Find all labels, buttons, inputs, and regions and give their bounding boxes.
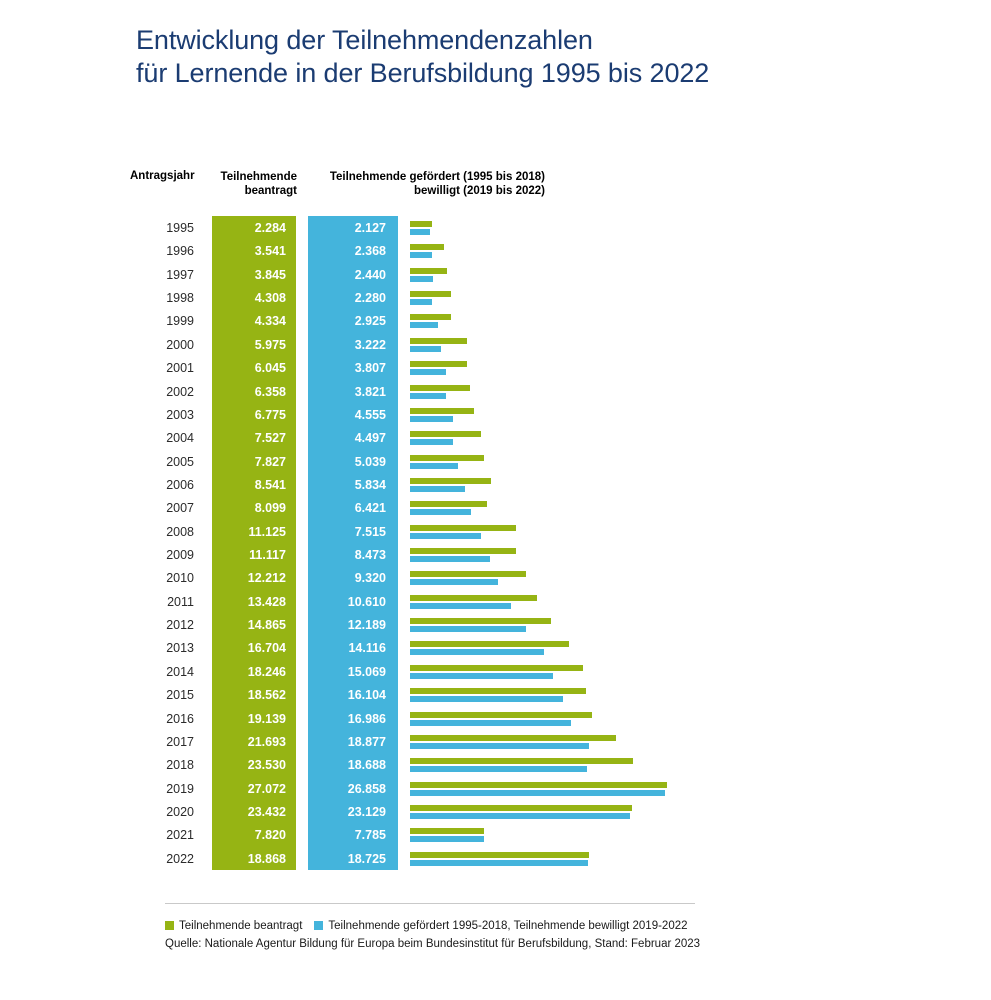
row-funded-value: 2.440	[308, 268, 386, 282]
row-applied-value: 18.562	[212, 688, 286, 702]
legend-item-funded: Teilnehmende gefördert 1995-2018, Teilne…	[314, 920, 687, 932]
bar-funded	[410, 486, 465, 492]
row-year-label: 2019	[130, 782, 194, 796]
bar-funded	[410, 860, 588, 866]
bar-applied	[410, 244, 444, 250]
bar-funded	[410, 813, 630, 819]
bar-funded	[410, 696, 563, 702]
row-year-label: 2011	[130, 595, 194, 609]
bar-funded	[410, 743, 589, 749]
bar-funded	[410, 626, 526, 632]
bar-applied	[410, 455, 484, 461]
row-applied-value: 4.308	[212, 291, 286, 305]
table-row: 20036.7754.555	[0, 403, 991, 426]
row-year-label: 2020	[130, 805, 194, 819]
row-applied-value: 7.827	[212, 455, 286, 469]
table-row: 201619.13916.986	[0, 707, 991, 730]
row-year-label: 2009	[130, 548, 194, 562]
row-funded-value: 7.785	[308, 828, 386, 842]
row-funded-value: 2.925	[308, 314, 386, 328]
chart-rows: 19952.2842.12719963.5412.36819973.8452.4…	[0, 216, 991, 870]
bar-applied	[410, 548, 516, 554]
table-row: 19984.3082.280	[0, 286, 991, 309]
bar-funded	[410, 649, 544, 655]
row-year-label: 1995	[130, 221, 194, 235]
page-title: Entwicklung der Teilnehmendenzahlen für …	[136, 24, 896, 90]
bar-applied	[410, 291, 451, 297]
table-row: 201927.07226.858	[0, 777, 991, 800]
row-funded-value: 4.497	[308, 431, 386, 445]
row-applied-value: 4.334	[212, 314, 286, 328]
bar-applied	[410, 501, 487, 507]
row-year-label: 2002	[130, 385, 194, 399]
table-row: 201721.69318.877	[0, 730, 991, 753]
row-year-label: 2016	[130, 712, 194, 726]
row-year-label: 1997	[130, 268, 194, 282]
row-year-label: 2008	[130, 525, 194, 539]
table-row: 20005.9753.222	[0, 333, 991, 356]
legend-item-applied: Teilnehmende beantragt	[165, 920, 302, 932]
table-row: 201113.42810.610	[0, 590, 991, 613]
row-applied-value: 2.284	[212, 221, 286, 235]
row-funded-value: 8.473	[308, 548, 386, 562]
legend-swatch-green-icon	[165, 921, 174, 930]
bar-applied	[410, 595, 537, 601]
table-row: 201823.53018.688	[0, 753, 991, 776]
table-row: 201012.2129.320	[0, 566, 991, 589]
table-row: 20047.5274.497	[0, 426, 991, 449]
row-applied-value: 14.865	[212, 618, 286, 632]
table-row: 20217.8207.785	[0, 823, 991, 846]
row-funded-value: 7.515	[308, 525, 386, 539]
row-applied-value: 23.530	[212, 758, 286, 772]
row-applied-value: 3.845	[212, 268, 286, 282]
row-funded-value: 3.222	[308, 338, 386, 352]
table-row: 19963.5412.368	[0, 239, 991, 262]
bar-funded	[410, 579, 498, 585]
row-applied-value: 3.541	[212, 244, 286, 258]
bar-applied	[410, 641, 569, 647]
column-header-applied: Teilnehmende beantragt	[205, 170, 297, 198]
row-applied-value: 18.246	[212, 665, 286, 679]
table-row: 201418.24615.069	[0, 660, 991, 683]
row-applied-value: 7.820	[212, 828, 286, 842]
row-year-label: 2005	[130, 455, 194, 469]
bar-funded	[410, 556, 490, 562]
row-funded-value: 2.368	[308, 244, 386, 258]
bar-funded	[410, 393, 446, 399]
bar-applied	[410, 618, 551, 624]
bar-applied	[410, 805, 632, 811]
column-header-applied-line-1: Teilnehmende	[221, 171, 297, 183]
row-funded-value: 14.116	[308, 641, 386, 655]
legend-swatch-blue-icon	[314, 921, 323, 930]
row-applied-value: 6.775	[212, 408, 286, 422]
bar-applied	[410, 221, 432, 227]
bar-funded	[410, 720, 571, 726]
row-applied-value: 19.139	[212, 712, 286, 726]
table-row: 19994.3342.925	[0, 309, 991, 332]
bar-applied	[410, 828, 484, 834]
row-year-label: 2000	[130, 338, 194, 352]
table-row: 201518.56216.104	[0, 683, 991, 706]
bar-funded	[410, 416, 453, 422]
bar-funded	[410, 673, 553, 679]
row-funded-value: 3.821	[308, 385, 386, 399]
table-row: 20026.3583.821	[0, 380, 991, 403]
bar-applied	[410, 758, 633, 764]
bar-applied	[410, 314, 451, 320]
row-funded-value: 18.688	[308, 758, 386, 772]
row-applied-value: 11.125	[212, 525, 286, 539]
table-row: 202218.86818.725	[0, 847, 991, 870]
row-funded-value: 26.858	[308, 782, 386, 796]
row-year-label: 1998	[130, 291, 194, 305]
table-row: 20078.0996.421	[0, 496, 991, 519]
bar-applied	[410, 665, 583, 671]
bar-applied	[410, 431, 481, 437]
table-row: 200911.1178.473	[0, 543, 991, 566]
bar-funded	[410, 369, 446, 375]
legend-label-applied: Teilnehmende beantragt	[179, 920, 302, 932]
row-funded-value: 15.069	[308, 665, 386, 679]
row-year-label: 2022	[130, 852, 194, 866]
bar-applied	[410, 268, 447, 274]
row-year-label: 2017	[130, 735, 194, 749]
row-applied-value: 8.099	[212, 501, 286, 515]
bar-funded	[410, 346, 441, 352]
chart-legend: Teilnehmende beantragt Teilnehmende gefö…	[165, 920, 688, 932]
bar-applied	[410, 338, 467, 344]
table-row: 19973.8452.440	[0, 263, 991, 286]
row-applied-value: 6.045	[212, 361, 286, 375]
row-funded-value: 12.189	[308, 618, 386, 632]
row-year-label: 2018	[130, 758, 194, 772]
bar-funded	[410, 229, 430, 235]
bar-funded	[410, 299, 432, 305]
row-year-label: 2006	[130, 478, 194, 492]
column-header-funded-line-2: bewilligt (2019 bis 2022)	[305, 184, 545, 198]
table-row: 19952.2842.127	[0, 216, 991, 239]
bar-funded	[410, 463, 458, 469]
row-funded-value: 18.877	[308, 735, 386, 749]
row-funded-value: 23.129	[308, 805, 386, 819]
row-year-label: 2003	[130, 408, 194, 422]
bar-funded	[410, 533, 481, 539]
row-funded-value: 9.320	[308, 571, 386, 585]
bar-applied	[410, 688, 586, 694]
row-year-label: 2001	[130, 361, 194, 375]
row-year-label: 2013	[130, 641, 194, 655]
bar-funded	[410, 836, 484, 842]
table-row: 201214.86512.189	[0, 613, 991, 636]
row-year-label: 2014	[130, 665, 194, 679]
source-note: Quelle: Nationale Agentur Bildung für Eu…	[165, 938, 700, 950]
table-row: 20068.5415.834	[0, 473, 991, 496]
bar-funded	[410, 766, 587, 772]
bar-applied	[410, 712, 592, 718]
row-year-label: 1999	[130, 314, 194, 328]
row-funded-value: 16.104	[308, 688, 386, 702]
footer-divider	[165, 903, 695, 904]
row-year-label: 2021	[130, 828, 194, 842]
row-funded-value: 2.127	[308, 221, 386, 235]
row-year-label: 2010	[130, 571, 194, 585]
table-row: 202023.43223.129	[0, 800, 991, 823]
row-funded-value: 2.280	[308, 291, 386, 305]
bar-applied	[410, 525, 516, 531]
row-applied-value: 12.212	[212, 571, 286, 585]
row-applied-value: 8.541	[212, 478, 286, 492]
row-funded-value: 5.834	[308, 478, 386, 492]
bar-applied	[410, 478, 491, 484]
row-funded-value: 5.039	[308, 455, 386, 469]
bar-applied	[410, 782, 667, 788]
column-header-funded: Teilnehmende gefördert (1995 bis 2018) b…	[305, 170, 545, 198]
row-applied-value: 27.072	[212, 782, 286, 796]
bar-funded	[410, 509, 471, 515]
bar-applied	[410, 571, 526, 577]
table-row: 20016.0453.807	[0, 356, 991, 379]
bar-funded	[410, 252, 432, 258]
bar-funded	[410, 603, 511, 609]
row-applied-value: 21.693	[212, 735, 286, 749]
row-applied-value: 18.868	[212, 852, 286, 866]
bar-applied	[410, 735, 616, 741]
row-applied-value: 6.358	[212, 385, 286, 399]
row-applied-value: 11.117	[212, 548, 286, 562]
table-header: Antragsjahr Teilnehmende beantragt Teiln…	[0, 165, 991, 205]
row-year-label: 2007	[130, 501, 194, 515]
row-funded-value: 16.986	[308, 712, 386, 726]
row-funded-value: 18.725	[308, 852, 386, 866]
column-header-funded-line-1: Teilnehmende gefördert (1995 bis 2018)	[305, 170, 545, 184]
legend-label-funded: Teilnehmende gefördert 1995-2018, Teilne…	[328, 920, 687, 932]
column-header-year: Antragsjahr	[130, 170, 214, 182]
row-applied-value: 16.704	[212, 641, 286, 655]
row-year-label: 2015	[130, 688, 194, 702]
row-applied-value: 13.428	[212, 595, 286, 609]
row-funded-value: 6.421	[308, 501, 386, 515]
bar-funded	[410, 790, 665, 796]
page-title-line-2: für Lernende in der Berufsbildung 1995 b…	[136, 57, 896, 90]
column-header-applied-line-2: beantragt	[245, 185, 297, 197]
table-row: 200811.1257.515	[0, 520, 991, 543]
bar-funded	[410, 276, 433, 282]
bar-funded	[410, 322, 438, 328]
row-year-label: 1996	[130, 244, 194, 258]
bar-applied	[410, 408, 474, 414]
bar-applied	[410, 385, 470, 391]
table-row: 20057.8275.039	[0, 450, 991, 473]
row-funded-value: 3.807	[308, 361, 386, 375]
row-applied-value: 5.975	[212, 338, 286, 352]
row-year-label: 2004	[130, 431, 194, 445]
row-funded-value: 4.555	[308, 408, 386, 422]
bar-funded	[410, 439, 453, 445]
row-year-label: 2012	[130, 618, 194, 632]
table-row: 201316.70414.116	[0, 636, 991, 659]
row-applied-value: 7.527	[212, 431, 286, 445]
bar-applied	[410, 361, 467, 367]
row-applied-value: 23.432	[212, 805, 286, 819]
bar-applied	[410, 852, 589, 858]
row-funded-value: 10.610	[308, 595, 386, 609]
page-title-line-1: Entwicklung der Teilnehmendenzahlen	[136, 24, 896, 57]
